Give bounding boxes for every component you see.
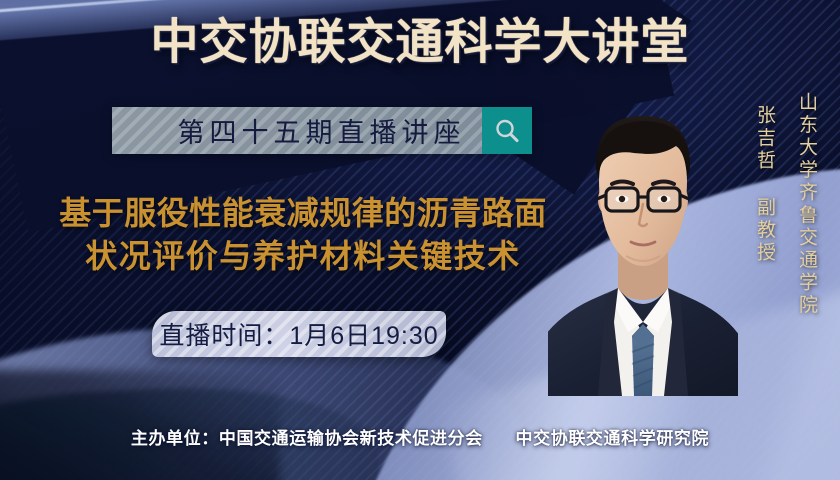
lecture-headline: 基于服役性能衰减规律的沥青路面 状况评价与养护材料关键技术 xyxy=(18,192,588,278)
series-label: 第四十五期直播讲座 xyxy=(129,111,466,150)
organizer-secondary: 中交协联交通科学研究院 xyxy=(516,429,710,448)
organizer-primary: 主办单位：中国交通运输协会新技术促进分会 xyxy=(131,429,483,448)
page-title: 中交协联交通科学大讲堂 xyxy=(0,16,840,70)
broadcast-time-badge: 直播时间：1月6日19:30 xyxy=(152,311,446,357)
broadcast-time-text: 直播时间：1月6日19:30 xyxy=(159,316,438,352)
search-icon[interactable] xyxy=(482,107,532,154)
speaker-affiliation: 山东大学齐鲁交通学院 xyxy=(797,92,816,317)
organizer-footer: 主办单位：中国交通运输协会新技术促进分会 中交协联交通科学研究院 xyxy=(0,424,840,449)
webinar-poster: 中交协联交通科学大讲堂 第四十五期直播讲座 基于服役性能衰减规律的沥青路面 状况… xyxy=(0,0,840,480)
series-banner-body: 第四十五期直播讲座 xyxy=(112,107,482,154)
speaker-name: 张吉哲 副教授 xyxy=(755,105,774,265)
headline-line-1: 基于服役性能衰减规律的沥青路面 xyxy=(18,192,588,235)
headline-line-2: 状况评价与养护材料关键技术 xyxy=(18,235,588,278)
series-banner: 第四十五期直播讲座 xyxy=(112,107,532,154)
